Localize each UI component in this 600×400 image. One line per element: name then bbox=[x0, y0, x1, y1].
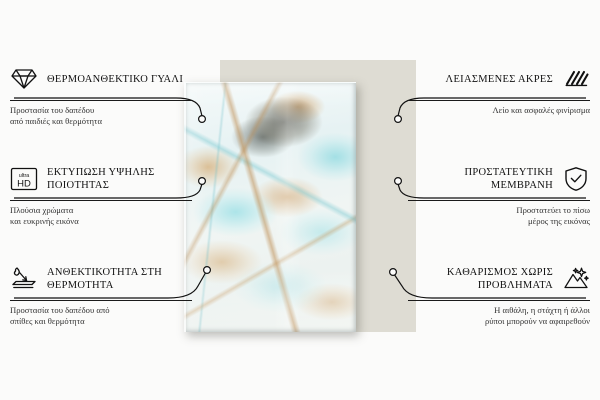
feature-protective-membrane: ΠΡΟΣΤΑΤΕΥΤΙΚΗ ΜΕΜΒΡΑΝΗ Προστατεύει το πί… bbox=[408, 162, 590, 227]
glass-product-image bbox=[184, 82, 356, 332]
feature-divider bbox=[10, 200, 192, 201]
feature-title: ΘΕΡΜΟΑΝΘΕΚΤΙΚΟ ΓΥΑΛΙ bbox=[47, 73, 183, 86]
feature-description: Προστασία του δαπέδου απόσπίθες και θερμ… bbox=[10, 305, 192, 327]
feature-description: Προστασία του δαπέδουαπό παιδιές και θερ… bbox=[10, 105, 192, 127]
feature-divider bbox=[408, 200, 590, 201]
heat-resistance-icon bbox=[10, 265, 38, 293]
feature-divider bbox=[10, 300, 192, 301]
feature-title: ΚΑΘΑΡΙΣΜΟΣ ΧΩΡΙΣ ΠΡΟΒΛΗΜΑΤΑ bbox=[408, 266, 553, 292]
feature-title: ΕΚΤΥΠΩΣΗ ΥΨΗΛΗΣ ΠΟΙΟΤΗΤΑΣ bbox=[47, 166, 192, 192]
ultra-hd-icon: ultra HD bbox=[10, 165, 38, 193]
feature-heat-durability: ΑΝΘΕΚΤΙΚΟΤΗΤΑ ΣΤΗ ΘΕΡΜΟΤΗΤΑ Προστασία το… bbox=[10, 262, 192, 327]
ultra-hd-bottom-label: HD bbox=[17, 179, 31, 190]
feature-title: ΛΕΙΑΣΜΕΝΕΣ ΑΚΡΕΣ bbox=[446, 73, 553, 86]
feature-high-quality-print: ultra HD ΕΚΤΥΠΩΣΗ ΥΨΗΛΗΣ ΠΟΙΟΤΗΤΑΣ Πλούσ… bbox=[10, 162, 192, 227]
feature-heading-row: ultra HD ΕΚΤΥΠΩΣΗ ΥΨΗΛΗΣ ΠΟΙΟΤΗΤΑΣ bbox=[10, 162, 192, 196]
ink-vein-overlay bbox=[184, 82, 356, 332]
feature-description: Πλούσια χρώματακαι ευκρινής εικόνα bbox=[10, 205, 192, 227]
feature-polished-edges: ΛΕΙΑΣΜΕΝΕΣ ΑΚΡΕΣ Λείο και ασφαλές φινίρι… bbox=[408, 62, 590, 116]
feature-heading-row: ΘΕΡΜΟΑΝΘΕΚΤΙΚΟ ΓΥΑΛΙ bbox=[10, 62, 192, 96]
shield-check-icon bbox=[562, 165, 590, 193]
feature-divider bbox=[408, 300, 590, 301]
feature-title: ΑΝΘΕΚΤΙΚΟΤΗΤΑ ΣΤΗ ΘΕΡΜΟΤΗΤΑ bbox=[47, 266, 192, 292]
infographic-canvas: ΘΕΡΜΟΑΝΘΕΚΤΙΚΟ ΓΥΑΛΙ Προστασία του δαπέδ… bbox=[0, 0, 600, 400]
feature-heading-row: ΛΕΙΑΣΜΕΝΕΣ ΑΚΡΕΣ bbox=[408, 62, 590, 96]
feature-description: Η αιθάλη, η στάχτη ή άλλοιρύποι μπορούν … bbox=[408, 305, 590, 327]
feature-heat-resistant-glass: ΘΕΡΜΟΑΝΘΕΚΤΙΚΟ ΓΥΑΛΙ Προστασία του δαπέδ… bbox=[10, 62, 192, 127]
easy-clean-sparkle-icon bbox=[562, 265, 590, 293]
feature-divider bbox=[10, 100, 192, 101]
feature-heading-row: ΠΡΟΣΤΑΤΕΥΤΙΚΗ ΜΕΜΒΡΑΝΗ bbox=[408, 162, 590, 196]
feature-title: ΠΡΟΣΤΑΤΕΥΤΙΚΗ ΜΕΜΒΡΑΝΗ bbox=[408, 166, 553, 192]
diamond-icon bbox=[10, 65, 38, 93]
feature-heading-row: ΑΝΘΕΚΤΙΚΟΤΗΤΑ ΣΤΗ ΘΕΡΜΟΤΗΤΑ bbox=[10, 262, 192, 296]
feature-easy-cleaning: ΚΑΘΑΡΙΣΜΟΣ ΧΩΡΙΣ ΠΡΟΒΛΗΜΑΤΑ Η αιθάλη, η … bbox=[408, 262, 590, 327]
product-visual-group bbox=[184, 60, 416, 340]
feature-heading-row: ΚΑΘΑΡΙΣΜΟΣ ΧΩΡΙΣ ΠΡΟΒΛΗΜΑΤΑ bbox=[408, 262, 590, 296]
feature-description: Λείο και ασφαλές φινίρισμα bbox=[408, 105, 590, 116]
feature-divider bbox=[408, 100, 590, 101]
feature-description: Προστατεύει το πίσωμέρος της εικόνας bbox=[408, 205, 590, 227]
polished-edges-icon bbox=[562, 65, 590, 93]
